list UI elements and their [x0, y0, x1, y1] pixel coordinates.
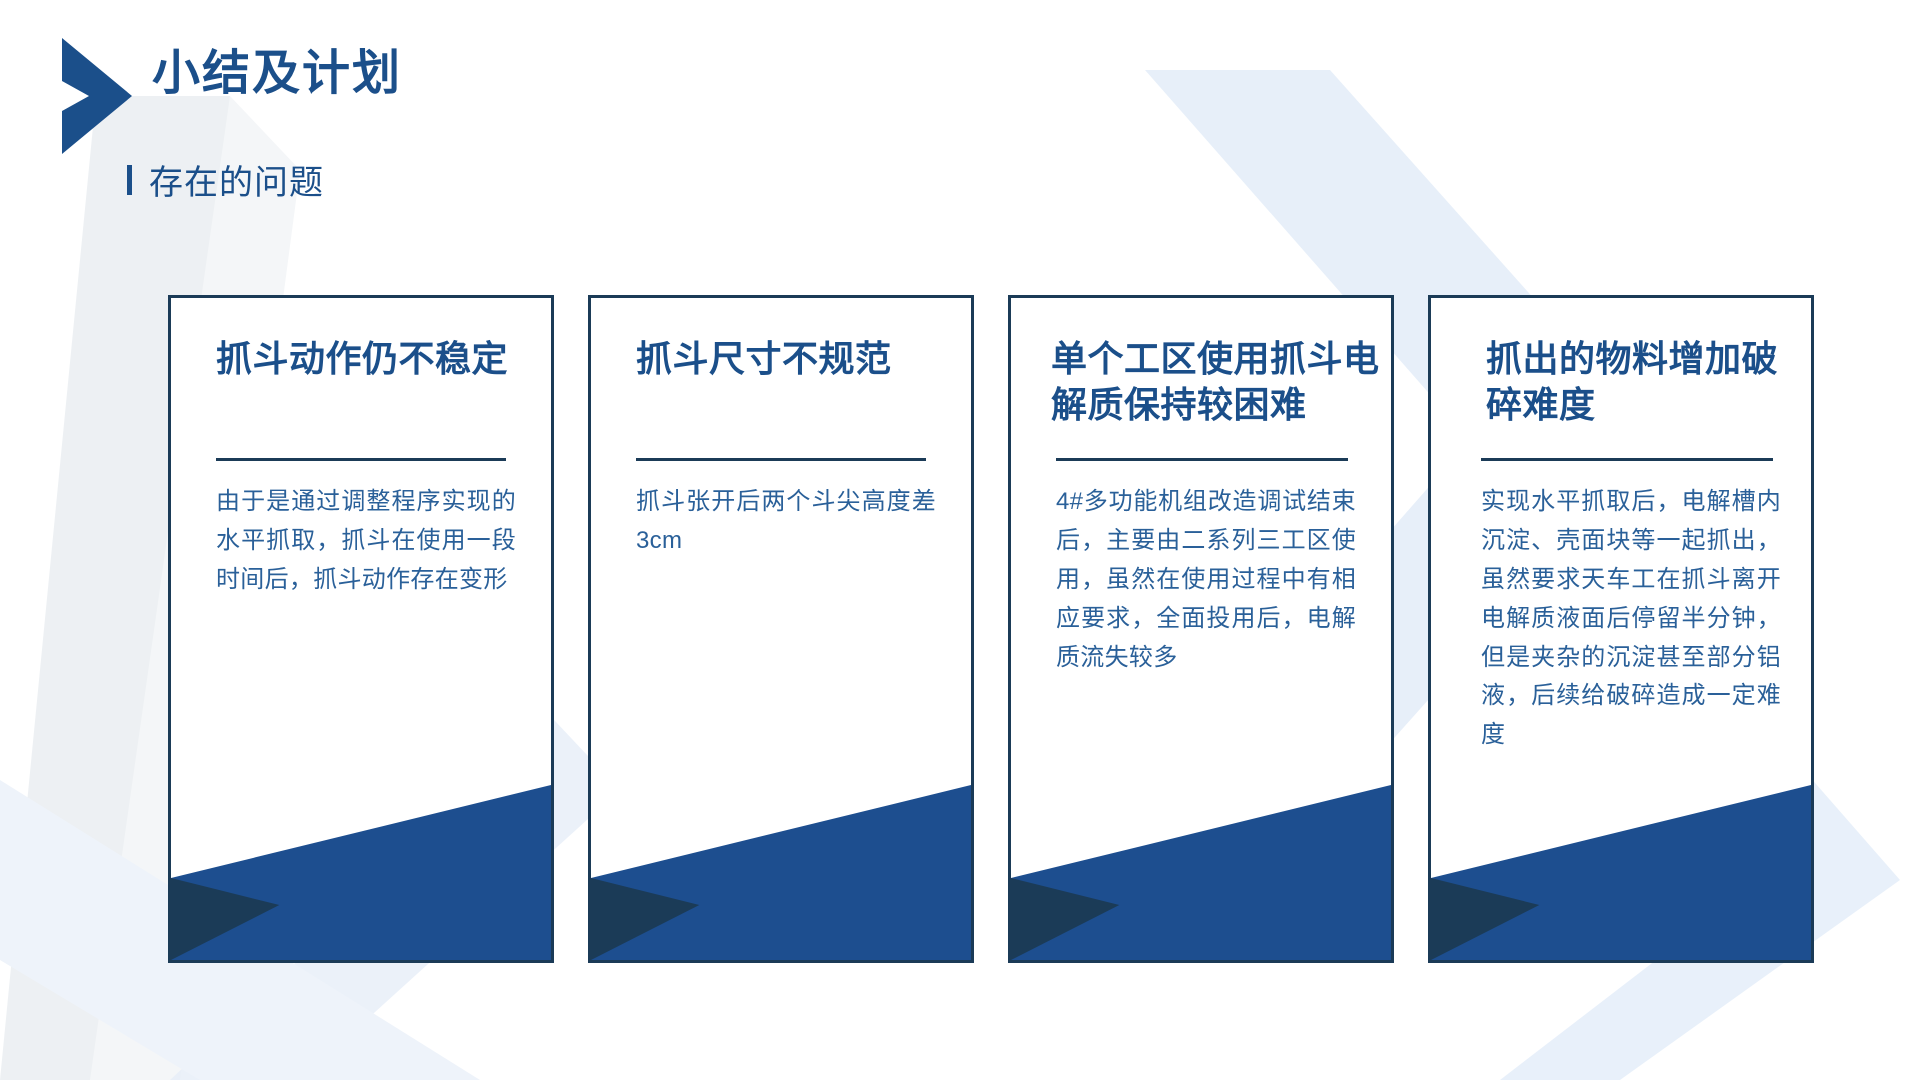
problem-card[interactable]: 抓斗尺寸不规范 抓斗张开后两个斗尖高度差3cm: [588, 295, 974, 963]
card-title: 抓斗动作仍不稳定: [216, 336, 536, 382]
vertical-bar-accent: [127, 165, 132, 195]
subtitle-text: 存在的问题: [149, 155, 324, 204]
subtitle-row: 存在的问题: [127, 155, 324, 204]
problem-card[interactable]: 抓斗动作仍不稳定 由于是通过调整程序实现的水平抓取，抓斗在使用一段时间后，抓斗动…: [168, 295, 554, 963]
slide-header: 小结及计划 存在的问题: [0, 0, 1920, 230]
card-divider: [1481, 458, 1773, 461]
card-content: 单个工区使用抓斗电解质保持较困难 4#多功能机组改造调试结束后，主要由二系列三工…: [1011, 298, 1391, 960]
card-title: 抓斗尺寸不规范: [636, 336, 956, 382]
card-title: 抓出的物料增加破碎难度: [1486, 336, 1806, 428]
card-body: 4#多功能机组改造调试结束后，主要由二系列三工区使用，虽然在使用过程中有相应要求…: [1056, 483, 1356, 677]
card-content: 抓出的物料增加破碎难度 实现水平抓取后，电解槽内沉淀、壳面块等一起抓出，虽然要求…: [1431, 298, 1811, 960]
card-divider: [636, 458, 926, 461]
card-title: 单个工区使用抓斗电解质保持较困难: [1051, 336, 1393, 428]
problem-card[interactable]: 单个工区使用抓斗电解质保持较困难 4#多功能机组改造调试结束后，主要由二系列三工…: [1008, 295, 1394, 963]
card-divider: [1056, 458, 1348, 461]
slide-canvas: 小结及计划 存在的问题 抓斗动作仍不稳定 由于是通过调整程序实现的水平抓取，抓斗…: [0, 0, 1920, 1080]
card-content: 抓斗动作仍不稳定 由于是通过调整程序实现的水平抓取，抓斗在使用一段时间后，抓斗动…: [171, 298, 551, 960]
card-body: 由于是通过调整程序实现的水平抓取，抓斗在使用一段时间后，抓斗动作存在变形: [216, 483, 516, 600]
card-content: 抓斗尺寸不规范 抓斗张开后两个斗尖高度差3cm: [591, 298, 971, 960]
problem-card[interactable]: 抓出的物料增加破碎难度 实现水平抓取后，电解槽内沉淀、壳面块等一起抓出，虽然要求…: [1428, 295, 1814, 963]
card-body: 抓斗张开后两个斗尖高度差3cm: [636, 483, 936, 561]
card-body: 实现水平抓取后，电解槽内沉淀、壳面块等一起抓出，虽然要求天车工在抓斗离开电解质液…: [1481, 483, 1781, 755]
chevron-right-icon: [62, 38, 132, 154]
card-divider: [216, 458, 506, 461]
page-title: 小结及计划: [152, 48, 402, 101]
